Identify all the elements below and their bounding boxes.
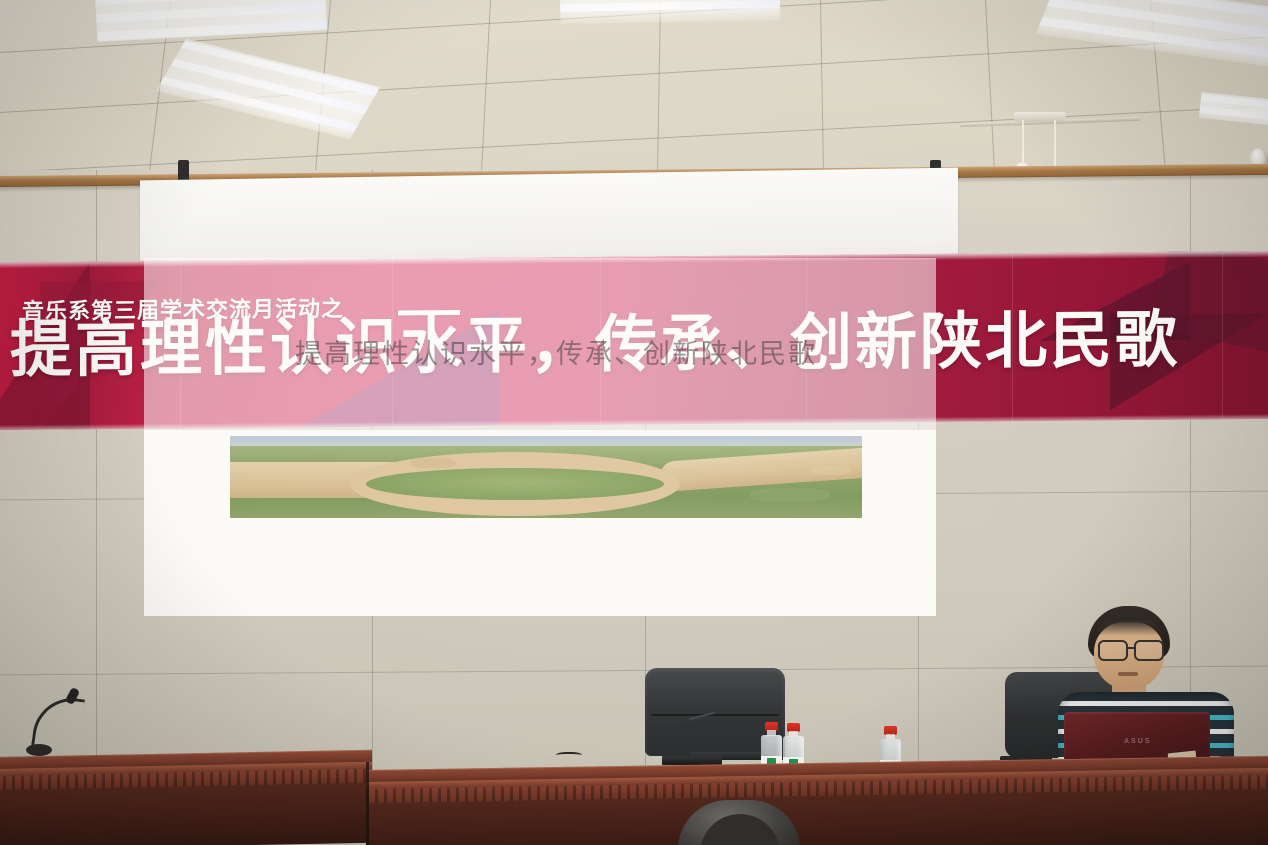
microphone-base bbox=[26, 744, 52, 756]
speaker-mouth bbox=[1118, 672, 1138, 676]
chair-seam bbox=[651, 714, 779, 716]
ceiling-light-fixture bbox=[156, 39, 380, 140]
eyeglasses-right-lens bbox=[1134, 640, 1164, 661]
laptop-brand-label: ASUS bbox=[1124, 738, 1151, 745]
speaker-forehead-shadow bbox=[1096, 620, 1162, 636]
event-banner: 音乐系第三届学术交流月活动之 提高理性认识水平，传承、创新陕北民歌 bbox=[0, 251, 1268, 430]
desk-front-panel bbox=[0, 783, 372, 845]
banner-main-title: 提高理性认识水平，传承、创新陕北民歌 bbox=[10, 310, 1180, 382]
gooseneck-microphone[interactable] bbox=[24, 686, 84, 760]
microphone-cable bbox=[556, 752, 582, 760]
ceiling-light-fixture bbox=[560, 0, 781, 24]
ceiling-light-fixture bbox=[1199, 92, 1268, 126]
pendant-cord bbox=[1022, 120, 1024, 166]
podium-desk-right bbox=[366, 756, 1268, 845]
podium-desk-left bbox=[0, 750, 372, 845]
ceiling-light-fixture bbox=[95, 0, 327, 42]
eyeglasses-left-lens bbox=[1098, 640, 1128, 661]
pendant-cord bbox=[1054, 120, 1056, 172]
desk-panel-seam bbox=[366, 762, 369, 845]
eyeglasses-bridge bbox=[1126, 647, 1134, 649]
ceiling-light-fixture bbox=[1036, 0, 1268, 67]
lecture-hall-photo: 音乐系第三届学术交流月活动之 提高理性认识水平，传承、创新陕北民歌 提高理性认识… bbox=[0, 0, 1268, 845]
suspended-ceiling bbox=[0, 0, 1268, 186]
